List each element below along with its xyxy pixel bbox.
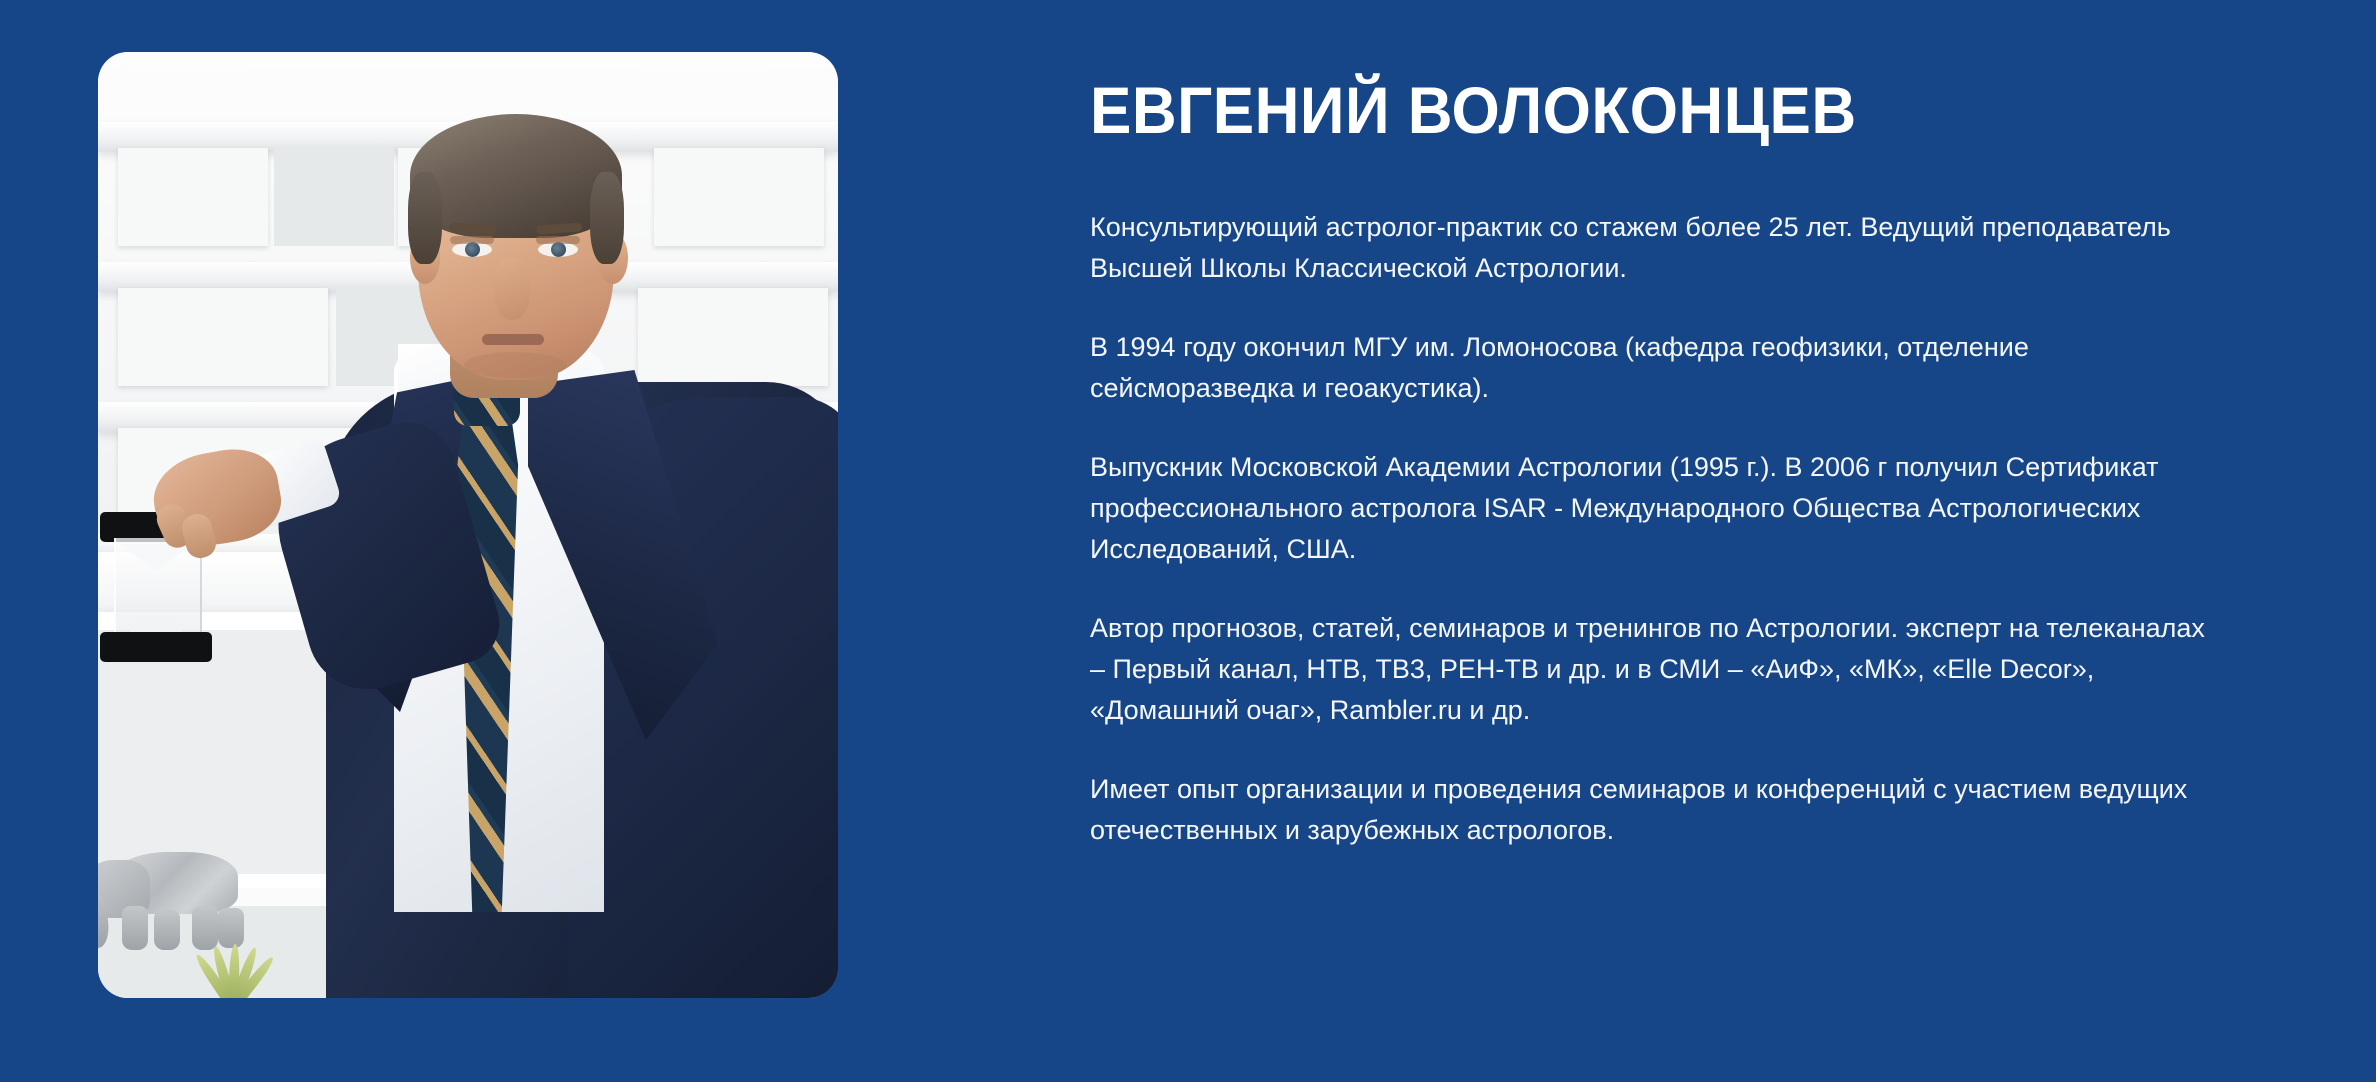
photo-stage (98, 52, 838, 998)
eyelid-left (450, 236, 494, 244)
nose (494, 258, 530, 320)
iris (465, 242, 480, 257)
profile-slide: ЕВГЕНИЙ ВОЛОКОНЦЕВ Консультирующий астро… (0, 0, 2376, 1082)
profile-text-column: ЕВГЕНИЙ ВОЛОКОНЦЕВ Консультирующий астро… (1090, 76, 2250, 851)
eye-right (538, 242, 578, 257)
iris (551, 242, 566, 257)
hair-side-left (408, 172, 442, 264)
mouth (482, 334, 544, 345)
portrait-photo (98, 52, 838, 998)
bio-paragraph-3: Выпускник Московской Академии Астрологии… (1090, 447, 2225, 570)
person-portrait (98, 52, 838, 998)
eye-left (452, 242, 492, 257)
hair-side-right (590, 172, 624, 264)
bio-paragraph-5: Имеет опыт организации и проведения семи… (1090, 769, 2225, 851)
chin-shadow (464, 352, 566, 378)
page-title: ЕВГЕНИЙ ВОЛОКОНЦЕВ (1090, 76, 2180, 145)
bio-paragraph-1: Консультирующий астролог-практик со стаж… (1090, 207, 2225, 289)
eyelid-right (536, 236, 580, 244)
bio-paragraph-2: В 1994 году окончил МГУ им. Ломоносова (… (1090, 327, 2225, 409)
bio-paragraph-4: Автор прогнозов, статей, семинаров и тре… (1090, 608, 2225, 731)
